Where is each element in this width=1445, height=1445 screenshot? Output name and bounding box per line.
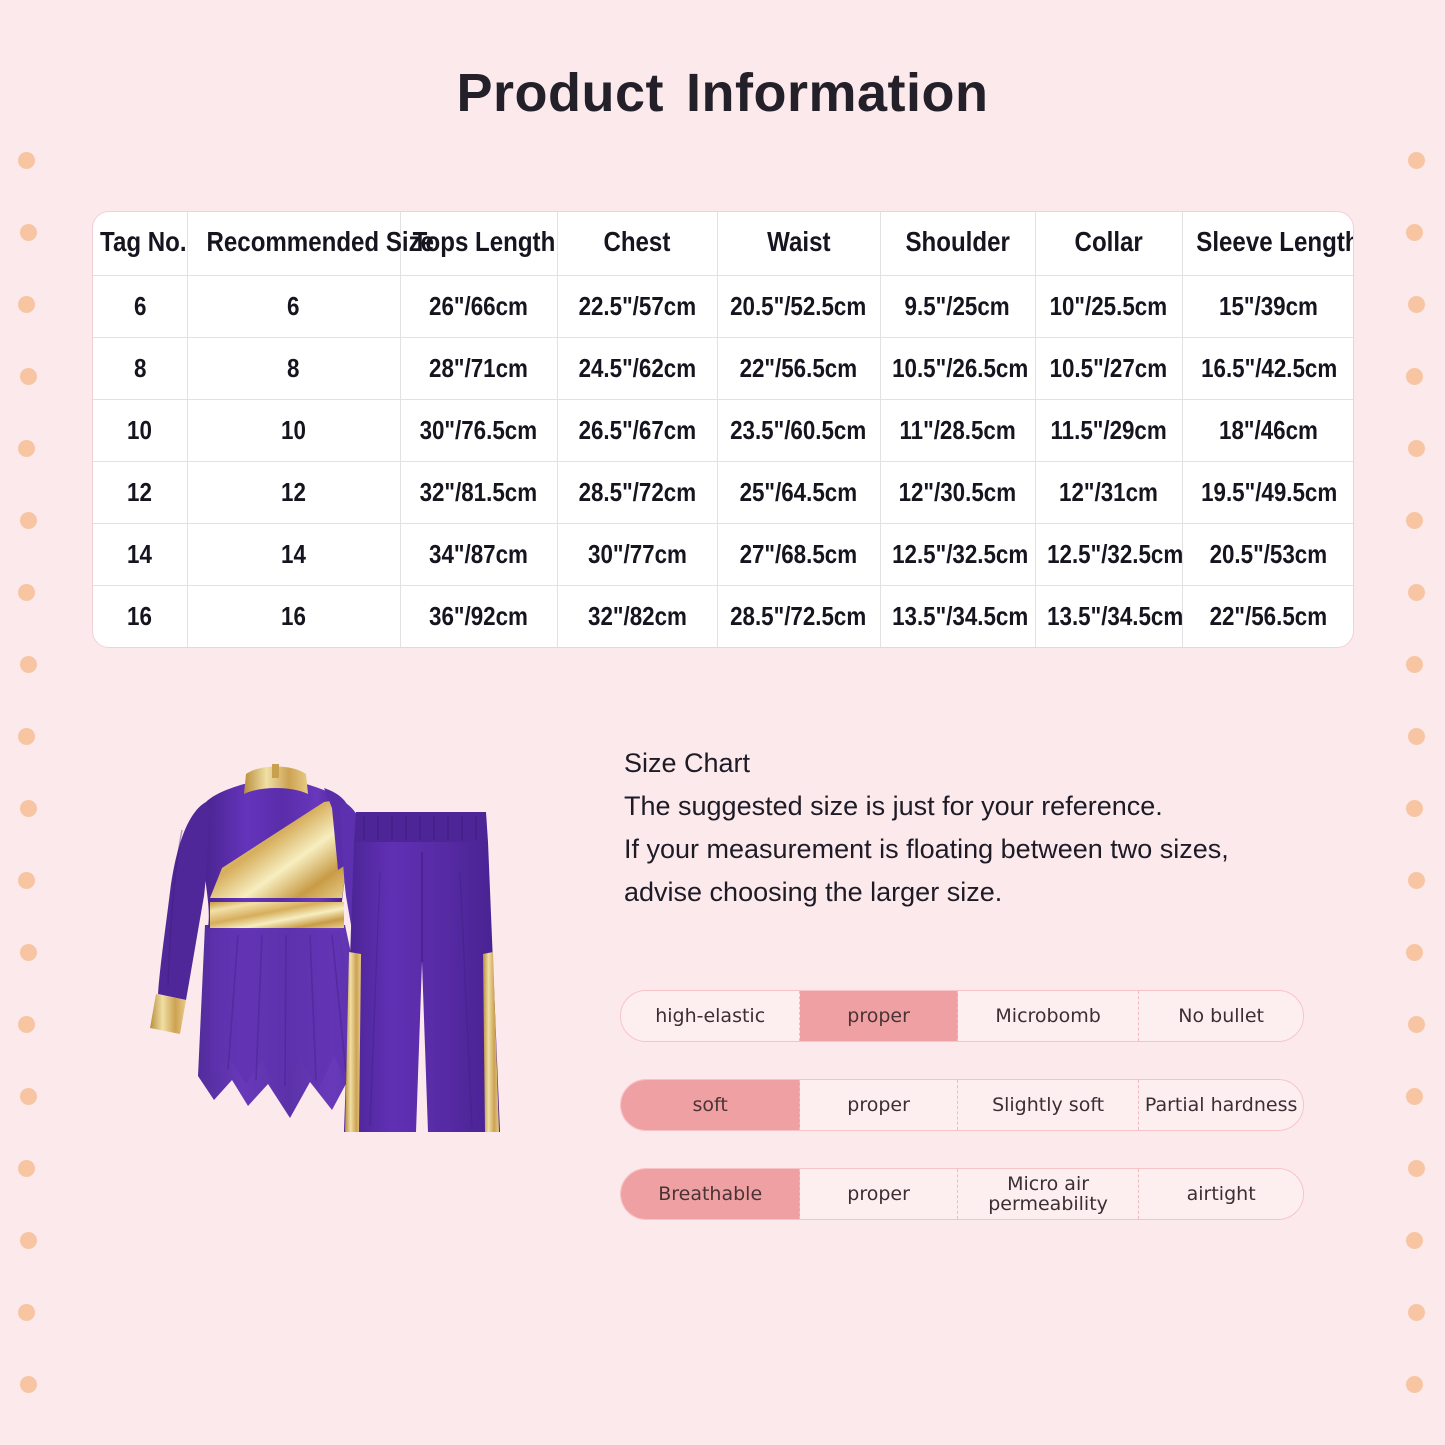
decorative-dot (20, 1376, 37, 1393)
table-header-label: Chest (604, 226, 671, 258)
decorative-dot (20, 512, 37, 529)
table-cell: 16 (93, 585, 187, 647)
table-header-label: Sleeve Length (1196, 226, 1354, 258)
decorative-dot (1406, 1088, 1423, 1105)
property-segment-label: high-elastic (655, 1006, 765, 1027)
table-cell: 19.5"/49.5cm (1182, 461, 1354, 523)
decorative-dot (20, 656, 37, 673)
table-cell-value: 12"/31cm (1059, 477, 1158, 508)
decorative-dot (1406, 944, 1423, 961)
table-cell: 13.5"/34.5cm (880, 585, 1035, 647)
table-cell-value: 13.5"/34.5cm (892, 601, 1028, 632)
table-row: 8828"/71cm24.5"/62cm22"/56.5cm10.5"/26.5… (93, 337, 1354, 399)
table-cell-value: 32"/82cm (588, 601, 687, 632)
decorative-dot (18, 728, 35, 745)
property-segment[interactable]: airtight (1139, 1169, 1303, 1219)
table-cell-value: 32"/81.5cm (420, 477, 538, 508)
table-cell-value: 12.5"/32.5cm (1047, 539, 1183, 570)
table-cell: 30"/77cm (557, 523, 717, 585)
table-header-label: Shoulder (905, 226, 1009, 258)
decorative-dot (1408, 440, 1425, 457)
table-header-cell: Tag No. (93, 212, 187, 275)
decorative-dot (1406, 1232, 1423, 1249)
property-segment-active[interactable]: proper (800, 991, 958, 1041)
property-segment-label: proper (847, 1095, 910, 1116)
table-cell: 20.5"/53cm (1182, 523, 1354, 585)
decorative-dot (18, 1304, 35, 1321)
table-cell-value: 28.5"/72.5cm (730, 601, 866, 632)
property-segment-label: proper (847, 1184, 910, 1205)
table-cell: 8 (93, 337, 187, 399)
table-cell: 16.5"/42.5cm (1182, 337, 1354, 399)
table-cell: 10"/25.5cm (1035, 275, 1182, 337)
table-cell: 8 (187, 337, 400, 399)
decorative-dot (20, 1232, 37, 1249)
table-cell: 20.5"/52.5cm (717, 275, 880, 337)
size-chart-note-line-3: If your measurement is floating between … (624, 828, 1324, 871)
property-bar-softness: softproperSlightly softPartial hardness (620, 1079, 1304, 1131)
pants-illustration (344, 812, 500, 1132)
table-cell-value: 13.5"/34.5cm (1047, 601, 1183, 632)
property-segment[interactable]: No bullet (1139, 991, 1303, 1041)
decorative-dot (20, 944, 37, 961)
table-cell-value: 8 (287, 353, 299, 384)
decorative-dot (18, 152, 35, 169)
table-cell-value: 16.5"/42.5cm (1201, 353, 1337, 384)
decorative-dot (18, 1016, 35, 1033)
size-chart-note: Size Chart The suggested size is just fo… (624, 742, 1324, 914)
table-cell: 22"/56.5cm (717, 337, 880, 399)
decorative-dot (18, 872, 35, 889)
table-cell-value: 24.5"/62cm (578, 353, 696, 384)
table-header-label: Recommended Size (206, 226, 433, 258)
product-image (110, 750, 550, 1290)
table-cell-value: 6 (134, 291, 146, 322)
table-cell-value: 6 (287, 291, 299, 322)
table-cell-value: 25"/64.5cm (740, 477, 858, 508)
table-cell-value: 18"/46cm (1219, 415, 1318, 446)
table-cell-value: 27"/68.5cm (740, 539, 858, 570)
decorative-dot (1408, 1304, 1425, 1321)
property-segment[interactable]: Micro air permeability (958, 1169, 1139, 1219)
table-cell: 18"/46cm (1182, 399, 1354, 461)
decorative-dot (1408, 152, 1425, 169)
table-header-cell: Tops Length (400, 212, 557, 275)
table-cell-value: 16 (127, 601, 152, 632)
decorative-dot (1408, 584, 1425, 601)
decorative-dot (20, 368, 37, 385)
property-segment[interactable]: proper (800, 1169, 958, 1219)
table-header-label: Tops Length (412, 226, 555, 258)
table-cell-value: 14 (281, 539, 306, 570)
table-cell: 32"/81.5cm (400, 461, 557, 523)
table-cell-value: 10"/25.5cm (1050, 291, 1168, 322)
product-illustration-svg (110, 750, 550, 1290)
table-cell: 10.5"/27cm (1035, 337, 1182, 399)
table-row: 161636"/92cm32"/82cm28.5"/72.5cm13.5"/34… (93, 585, 1354, 647)
page-title: ProductInformation (0, 62, 1445, 124)
table-cell-value: 22"/56.5cm (740, 353, 858, 384)
table-cell-value: 20.5"/53cm (1210, 539, 1328, 570)
table-cell-value: 34"/87cm (429, 539, 528, 570)
decorative-dots-left (10, 0, 50, 1445)
table-cell-value: 19.5"/49.5cm (1201, 477, 1337, 508)
table-cell-value: 8 (134, 353, 146, 384)
table-cell: 22"/56.5cm (1182, 585, 1354, 647)
property-segment[interactable]: proper (800, 1080, 958, 1130)
table-cell-value: 30"/76.5cm (420, 415, 538, 446)
table-cell: 30"/76.5cm (400, 399, 557, 461)
property-segment-label: soft (693, 1095, 728, 1116)
property-segment-label: No bullet (1178, 1006, 1264, 1027)
property-segment[interactable]: Microbomb (958, 991, 1139, 1041)
property-segment-label: airtight (1187, 1184, 1256, 1205)
decorative-dot (1408, 296, 1425, 313)
table-cell-value: 9.5"/25cm (905, 291, 1010, 322)
table-cell: 32"/82cm (557, 585, 717, 647)
table-header-cell: Waist (717, 212, 880, 275)
table-cell-value: 11"/28.5cm (899, 415, 1015, 446)
size-chart-note-line-4: advise choosing the larger size. (624, 871, 1324, 914)
table-cell-value: 12.5"/32.5cm (892, 539, 1028, 570)
table-cell: 16 (187, 585, 400, 647)
table-cell-value: 12 (127, 477, 152, 508)
table-cell: 12 (187, 461, 400, 523)
table-header-label: Collar (1074, 226, 1142, 258)
decorative-dot (20, 1088, 37, 1105)
size-chart-heading: Size Chart (624, 742, 1324, 785)
table-cell-value: 10.5"/27cm (1050, 353, 1168, 384)
property-segment-label: Micro air permeability (958, 1174, 1138, 1214)
table-cell: 9.5"/25cm (880, 275, 1035, 337)
property-segment[interactable]: Partial hardness (1139, 1080, 1303, 1130)
table-row: 101030"/76.5cm26.5"/67cm23.5"/60.5cm11"/… (93, 399, 1354, 461)
table-cell: 10.5"/26.5cm (880, 337, 1035, 399)
table-cell-value: 28.5"/72cm (578, 477, 696, 508)
table-cell-value: 23.5"/60.5cm (730, 415, 866, 446)
table-cell-value: 30"/77cm (588, 539, 687, 570)
table-cell: 14 (93, 523, 187, 585)
size-table-container: Tag No.Recommended SizeTops LengthChestW… (92, 211, 1354, 648)
table-cell-value: 20.5"/52.5cm (730, 291, 866, 322)
table-cell: 13.5"/34.5cm (1035, 585, 1182, 647)
table-cell: 28"/71cm (400, 337, 557, 399)
property-segment-label: Breathable (658, 1184, 762, 1205)
decorative-dot (18, 1160, 35, 1177)
table-body: 6626"/66cm22.5"/57cm20.5"/52.5cm9.5"/25c… (93, 275, 1354, 647)
size-table: Tag No.Recommended SizeTops LengthChestW… (93, 212, 1354, 647)
table-cell-value: 26"/66cm (429, 291, 528, 322)
property-segment[interactable]: high-elastic (621, 991, 800, 1041)
table-row: 141434"/87cm30"/77cm27"/68.5cm12.5"/32.5… (93, 523, 1354, 585)
table-cell-value: 16 (281, 601, 306, 632)
table-header-cell: Shoulder (880, 212, 1035, 275)
decorative-dot (1406, 1376, 1423, 1393)
table-cell: 15"/39cm (1182, 275, 1354, 337)
table-cell: 22.5"/57cm (557, 275, 717, 337)
table-cell: 24.5"/62cm (557, 337, 717, 399)
decorative-dot (18, 584, 35, 601)
decorative-dot (20, 224, 37, 241)
decorative-dot (1406, 800, 1423, 817)
decorative-dot (1408, 872, 1425, 889)
decorative-dot (1408, 728, 1425, 745)
table-header-cell: Chest (557, 212, 717, 275)
decorative-dot (1408, 1016, 1425, 1033)
table-cell: 26"/66cm (400, 275, 557, 337)
size-chart-note-line-2: The suggested size is just for your refe… (624, 785, 1324, 828)
property-bar-breathability: BreathableproperMicro air permeabilityai… (620, 1168, 1304, 1220)
table-cell: 12"/31cm (1035, 461, 1182, 523)
property-segment-active[interactable]: Breathable (621, 1169, 800, 1219)
page-title-word-2: Information (686, 63, 988, 123)
table-cell: 11"/28.5cm (880, 399, 1035, 461)
table-cell-value: 22.5"/57cm (578, 291, 696, 322)
table-header-row: Tag No.Recommended SizeTops LengthChestW… (93, 212, 1354, 275)
table-cell: 14 (187, 523, 400, 585)
table-cell: 6 (187, 275, 400, 337)
table-cell-value: 22"/56.5cm (1210, 601, 1328, 632)
table-cell-value: 36"/92cm (429, 601, 528, 632)
table-cell-value: 12"/30.5cm (899, 477, 1017, 508)
table-cell: 34"/87cm (400, 523, 557, 585)
table-cell: 27"/68.5cm (717, 523, 880, 585)
decorative-dot (1408, 1160, 1425, 1177)
table-cell: 26.5"/67cm (557, 399, 717, 461)
table-header-label: Tag No. (100, 226, 187, 258)
decorative-dot (1406, 224, 1423, 241)
table-cell: 12"/30.5cm (880, 461, 1035, 523)
table-cell-value: 10 (127, 415, 152, 446)
decorative-dot (18, 296, 35, 313)
table-cell-value: 10.5"/26.5cm (892, 353, 1028, 384)
decorative-dot (18, 440, 35, 457)
property-segment[interactable]: Slightly soft (958, 1080, 1139, 1130)
table-cell: 12.5"/32.5cm (880, 523, 1035, 585)
table-cell-value: 15"/39cm (1219, 291, 1318, 322)
table-cell: 10 (93, 399, 187, 461)
decorative-dot (20, 800, 37, 817)
table-header-cell: Sleeve Length (1182, 212, 1354, 275)
decorative-dot (1406, 512, 1423, 529)
table-cell-value: 10 (281, 415, 306, 446)
table-row: 6626"/66cm22.5"/57cm20.5"/52.5cm9.5"/25c… (93, 275, 1354, 337)
property-bars: high-elasticproperMicrobombNo bulletsoft… (620, 990, 1304, 1257)
table-cell: 36"/92cm (400, 585, 557, 647)
table-header-label: Waist (767, 226, 830, 258)
table-cell-value: 12 (281, 477, 306, 508)
table-cell: 12.5"/32.5cm (1035, 523, 1182, 585)
table-cell: 11.5"/29cm (1035, 399, 1182, 461)
property-segment-label: Slightly soft (992, 1095, 1104, 1116)
table-cell-value: 26.5"/67cm (578, 415, 696, 446)
table-cell-value: 11.5"/29cm (1050, 415, 1166, 446)
table-cell-value: 28"/71cm (429, 353, 528, 384)
property-segment-label: proper (847, 1006, 910, 1027)
property-segment-active[interactable]: soft (621, 1080, 800, 1130)
property-bar-elasticity: high-elasticproperMicrobombNo bullet (620, 990, 1304, 1042)
table-cell: 12 (93, 461, 187, 523)
decorative-dot (1406, 656, 1423, 673)
table-cell: 28.5"/72cm (557, 461, 717, 523)
property-segment-label: Microbomb (995, 1006, 1100, 1027)
table-cell: 6 (93, 275, 187, 337)
property-segment-label: Partial hardness (1145, 1095, 1298, 1115)
table-cell-value: 14 (127, 539, 152, 570)
table-cell: 28.5"/72.5cm (717, 585, 880, 647)
page-title-word-1: Product (457, 63, 665, 123)
table-cell: 23.5"/60.5cm (717, 399, 880, 461)
table-cell: 25"/64.5cm (717, 461, 880, 523)
table-cell: 10 (187, 399, 400, 461)
decorative-dots-right (1400, 0, 1440, 1445)
table-header-cell: Collar (1035, 212, 1182, 275)
table-row: 121232"/81.5cm28.5"/72cm25"/64.5cm12"/30… (93, 461, 1354, 523)
table-header-cell: Recommended Size (187, 212, 400, 275)
decorative-dot (1406, 368, 1423, 385)
